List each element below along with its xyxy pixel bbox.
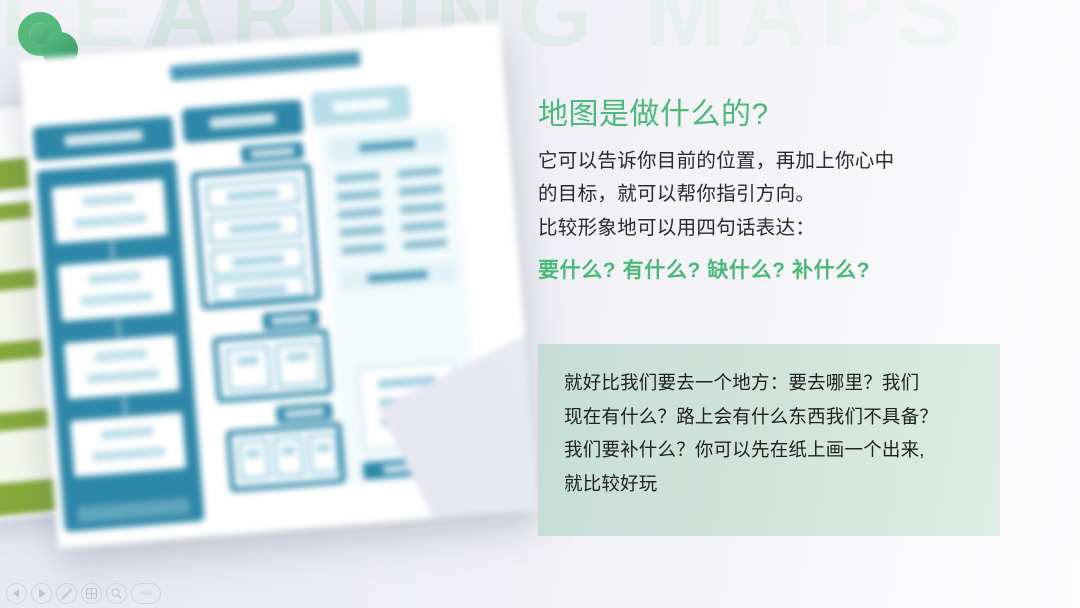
page-indicator[interactable]: 0000 bbox=[131, 583, 161, 604]
diagram-column-footer bbox=[77, 498, 190, 523]
diagram-box bbox=[51, 179, 167, 244]
diagram-left-column bbox=[36, 160, 205, 532]
page-title: 地图是做什么的? bbox=[538, 96, 1008, 134]
callout-line-4: 就比较好玩 bbox=[564, 467, 974, 501]
diagram-cell bbox=[275, 341, 322, 388]
diagram-header-bar-1 bbox=[33, 116, 175, 161]
diagram-card-title bbox=[170, 51, 361, 81]
diagram-tag bbox=[262, 309, 319, 330]
prev-button[interactable] bbox=[6, 583, 27, 604]
diagram-box bbox=[70, 412, 186, 477]
diagram-box bbox=[64, 334, 180, 399]
content-column: 地图是做什么的? 它可以告诉你目前的位置，再加上你心中 的目标，就可以帮你指引方… bbox=[538, 96, 1008, 284]
diagram-box bbox=[58, 257, 174, 322]
callout-line-2: 现在有什么？路上会有什么东西我们不具备？ bbox=[564, 400, 974, 434]
key-question-line: 要什么? 有什么? 缺什么? 补什么? bbox=[538, 254, 1008, 284]
diagram-connector bbox=[122, 397, 126, 415]
diagram-tag bbox=[241, 142, 304, 164]
apps-button[interactable] bbox=[81, 583, 102, 604]
zoom-button[interactable] bbox=[106, 583, 127, 604]
diagram-header-bar-2 bbox=[182, 100, 304, 144]
diagram-cell bbox=[237, 438, 270, 480]
diagram-connector bbox=[116, 319, 120, 337]
learning-map-diagram-card[interactable] bbox=[19, 21, 539, 548]
diagram-cell bbox=[272, 436, 305, 478]
diagram-connector bbox=[110, 241, 114, 259]
diagram-cell bbox=[205, 177, 301, 211]
body-line-3: 比较形象地可以用四句话表达： bbox=[538, 212, 1008, 246]
diagram-cell bbox=[307, 433, 340, 475]
diagram-group-2 bbox=[212, 328, 333, 403]
diagram-cell bbox=[212, 273, 308, 304]
right-panel-title-bar bbox=[328, 130, 445, 161]
play-button[interactable] bbox=[31, 583, 52, 604]
callout-line-3: 我们要补什么？你可以先在纸上画一个出来, bbox=[564, 433, 974, 467]
right-panel-subheader bbox=[339, 262, 456, 291]
player-controls: 0000 bbox=[6, 583, 161, 604]
callout-box: 就好比我们要去一个地方：要去哪里？我们 现在有什么？路上会有什么东西我们不具备？… bbox=[538, 344, 1000, 536]
diagram-cell bbox=[210, 243, 306, 277]
diagram-header-bar-3 bbox=[311, 85, 411, 127]
diagram-tag bbox=[276, 402, 333, 423]
callout-line-1: 就好比我们要去一个地方：要去哪里？我们 bbox=[564, 366, 974, 400]
body-line-2: 的目标，就可以帮你指引方向。 bbox=[538, 178, 1008, 212]
pen-button[interactable] bbox=[56, 583, 77, 604]
body-line-1: 它可以告诉你目前的位置，再加上你心中 bbox=[538, 145, 1008, 179]
diagram-group-1 bbox=[191, 163, 322, 310]
diagram-cell bbox=[207, 210, 303, 244]
diagram-cell bbox=[225, 345, 272, 392]
diagram-group-3 bbox=[226, 421, 347, 492]
